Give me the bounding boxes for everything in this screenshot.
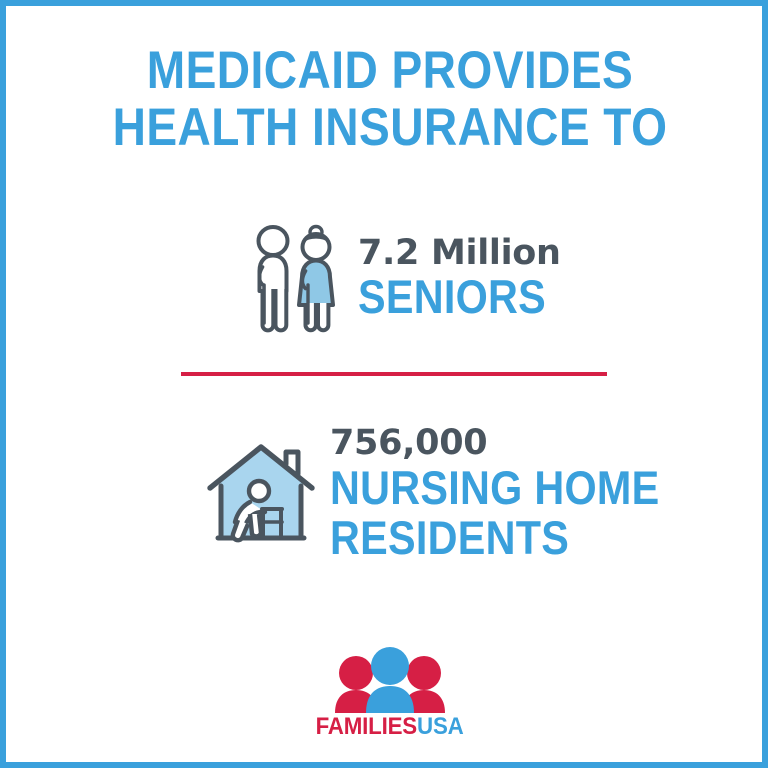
stat-text-seniors: 7.2 Million SENIORS bbox=[358, 234, 572, 324]
title-line-2: HEALTH INSURANCE TO bbox=[56, 99, 724, 156]
stat-number-seniors: 7.2 Million bbox=[358, 234, 572, 273]
stat-block-nursing-home: 756,000 NURSING HOME RESIDENTS bbox=[202, 424, 704, 563]
section-divider bbox=[181, 372, 607, 376]
elderly-couple-icon bbox=[244, 219, 344, 339]
stat-label-nursing-home-line-2: RESIDENTS bbox=[330, 513, 659, 563]
logo-word-usa: USA bbox=[417, 713, 464, 740]
nursing-home-icon bbox=[202, 438, 320, 548]
title-line-1: MEDICAID PROVIDES bbox=[56, 42, 724, 99]
stat-label-nursing-home-line-1: NURSING HOME bbox=[330, 463, 659, 513]
page-title: MEDICAID PROVIDES HEALTH INSURANCE TO bbox=[56, 42, 724, 156]
stat-text-nursing-home: 756,000 NURSING HOME RESIDENTS bbox=[330, 424, 704, 563]
three-people-icon bbox=[334, 647, 446, 713]
stat-block-seniors: 7.2 Million SENIORS bbox=[244, 219, 572, 339]
logo-wordmark: FAMILIESUSA bbox=[316, 715, 464, 739]
logo: FAMILIESUSA bbox=[6, 647, 768, 739]
infographic-canvas: MEDICAID PROVIDES HEALTH INSURANCE TO bbox=[0, 0, 768, 768]
stat-number-nursing-home: 756,000 bbox=[330, 424, 704, 463]
stat-label-seniors: SENIORS bbox=[358, 273, 546, 320]
logo-word-families: FAMILIES bbox=[316, 713, 417, 740]
